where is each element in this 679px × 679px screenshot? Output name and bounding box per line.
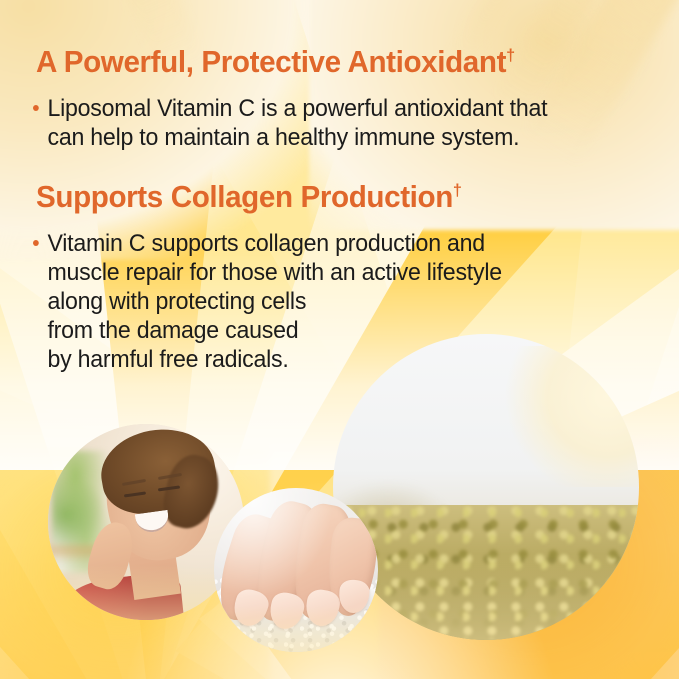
bullet-dot-icon — [33, 105, 39, 111]
section-heading-collagen: Supports Collagen Production† — [36, 180, 462, 214]
bullet-line: along with protecting cells — [47, 287, 640, 316]
bullet-line: can help to maintain a healthy immune sy… — [47, 123, 640, 152]
heading-text: A Powerful, Protective Antioxidant — [36, 44, 506, 79]
heading-text: Supports Collagen Production — [36, 179, 453, 214]
promo-graphic: A Powerful, Protective Antioxidant† Lipo… — [0, 0, 679, 679]
bullet-line: by harmful free radicals. — [47, 345, 640, 374]
bullet-line: muscle repair for those with an active l… — [47, 258, 640, 287]
bullet-line: Liposomal Vitamin C is a powerful antiox… — [47, 94, 640, 123]
bullet-dot-icon — [33, 240, 39, 246]
bullet-line: Vitamin C supports collagen production a… — [47, 229, 640, 258]
bullet-line: from the damage caused — [47, 316, 640, 345]
couple-running-outdoors-photo — [333, 334, 639, 640]
hand-nails-on-towel-photo — [214, 488, 378, 652]
bullet-item-collagen: Vitamin C supports collagen production a… — [33, 229, 641, 374]
dagger-symbol: † — [506, 46, 515, 65]
section-heading-antioxidant: A Powerful, Protective Antioxidant† — [36, 45, 515, 79]
bullet-item-antioxidant: Liposomal Vitamin C is a powerful antiox… — [33, 94, 641, 152]
dagger-symbol: † — [453, 181, 462, 200]
